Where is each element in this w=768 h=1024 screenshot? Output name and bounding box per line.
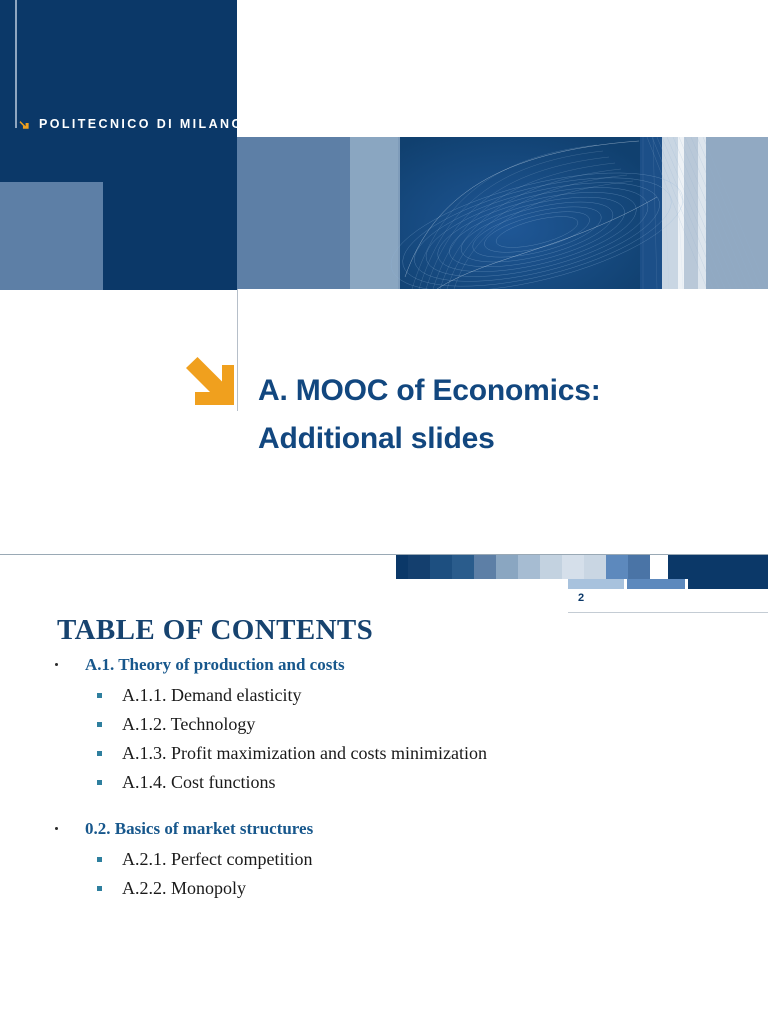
bullet-dot-icon [55, 663, 58, 666]
toc-item-label: A.2.1. Perfect competition [122, 849, 312, 870]
toc-header-stripe [452, 555, 474, 579]
toc-list: A.1. Theory of production and costsA.1.1… [0, 655, 768, 925]
cover-vertical-divider [237, 289, 238, 411]
bullet-square-icon [97, 857, 102, 862]
toc-header-stripes [396, 555, 768, 579]
toc-header-stripe [584, 555, 606, 579]
toc-header-stripe [540, 555, 562, 579]
toc-heading: TABLE OF CONTENTS [57, 614, 373, 647]
bullet-dot-icon [55, 827, 58, 830]
arrow-down-right-icon [19, 119, 30, 130]
toc-header-stripe [430, 555, 452, 579]
toc-header-stripe [408, 555, 430, 579]
bullet-square-icon [97, 780, 102, 785]
toc-header-stripe [606, 555, 628, 579]
toc-section-label: A.1. Theory of production and costs [85, 655, 345, 675]
cover-banner [237, 137, 768, 289]
toc-item-label: A.1.1. Demand elasticity [122, 685, 301, 706]
toc-item[interactable]: A.2.2. Monopoly [0, 878, 768, 899]
toc-item[interactable]: A.1.2. Technology [0, 714, 768, 735]
toc-item[interactable]: A.1.1. Demand elasticity [0, 685, 768, 706]
toc-item[interactable]: A.1.3. Profit maximization and costs min… [0, 743, 768, 764]
toc-item-label: A.2.2. Monopoly [122, 878, 246, 899]
page-title-line-1: A. MOOC of Economics: [258, 374, 601, 407]
bullet-square-icon [97, 751, 102, 756]
page-number-rule [568, 612, 768, 613]
toc-header-stripe [650, 555, 668, 579]
toc-item[interactable]: A.1.4. Cost functions [0, 772, 768, 793]
toc-section-label: 0.2. Basics of market structures [85, 819, 313, 839]
toc-section: 0.2. Basics of market structuresA.2.1. P… [0, 819, 768, 899]
toc-section-heading[interactable]: 0.2. Basics of market structures [0, 819, 768, 839]
toc-section: A.1. Theory of production and costsA.1.1… [0, 655, 768, 793]
toc-chip-light [568, 579, 624, 589]
toc-section-heading[interactable]: A.1. Theory of production and costs [0, 655, 768, 675]
logo-text: POLITECNICO DI MILANO [39, 117, 244, 131]
toc-item-label: A.1.4. Cost functions [122, 772, 276, 793]
toc-header-stripe [562, 555, 584, 579]
cover-slide: POLITECNICO DI MILANO A. MOOC of Economi… [0, 0, 768, 550]
cover-mid-blue-block [0, 182, 103, 290]
toc-header-stripe [396, 555, 408, 579]
toc-header-stripe [668, 555, 768, 579]
swirl-graphic [237, 137, 768, 289]
bullet-square-icon [97, 722, 102, 727]
politecnico-logo: POLITECNICO DI MILANO [19, 117, 244, 131]
cover-accent-line [15, 0, 17, 128]
toc-header-stripe [474, 555, 496, 579]
toc-chip-dark [688, 579, 768, 589]
toc-header-stripe [518, 555, 540, 579]
bullet-square-icon [97, 693, 102, 698]
toc-item-label: A.1.2. Technology [122, 714, 255, 735]
toc-item-label: A.1.3. Profit maximization and costs min… [122, 743, 487, 764]
title-arrow-down-right-icon [183, 357, 235, 413]
toc-header-stripe [496, 555, 518, 579]
toc-slide: 2 TABLE OF CONTENTS A.1. Theory of produ… [0, 550, 768, 1024]
toc-header-stripe [628, 555, 650, 579]
page-title: A. MOOC of Economics: Additional slides [258, 367, 728, 463]
page-number: 2 [578, 592, 584, 604]
page-title-line-2: Additional slides [258, 422, 495, 455]
toc-item[interactable]: A.2.1. Perfect competition [0, 849, 768, 870]
bullet-square-icon [97, 886, 102, 891]
toc-chip-medium [627, 579, 685, 589]
